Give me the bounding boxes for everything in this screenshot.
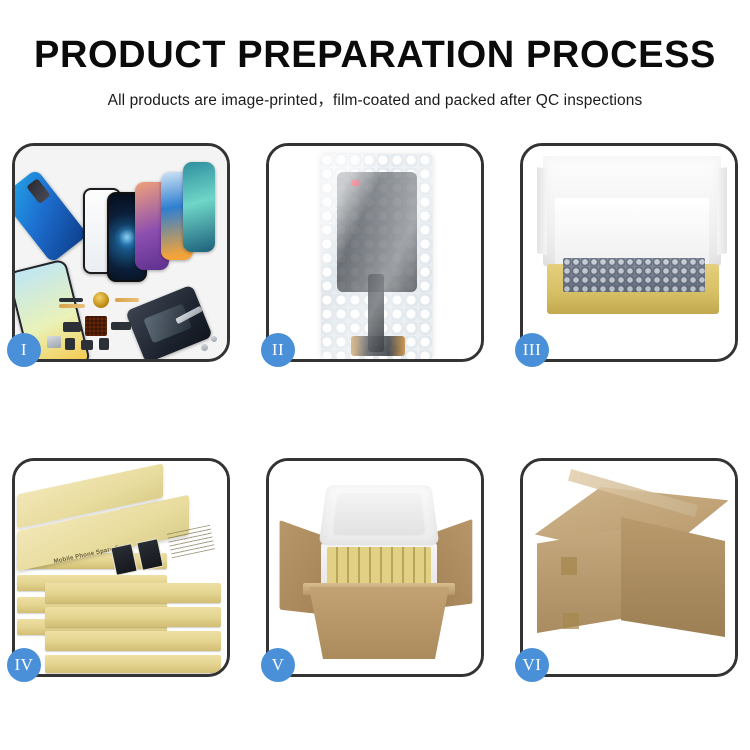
page-subtitle: All products are image-printed，film-coat…	[0, 76, 750, 110]
chip-grid-icon	[85, 316, 107, 336]
step-badge-6: VI	[515, 648, 549, 682]
process-step-panel-2[interactable]: II	[266, 143, 484, 362]
carton-seam-tab-icon	[563, 613, 579, 629]
connector-icon	[111, 322, 131, 330]
step-badge-1: I	[7, 333, 41, 367]
screw-icon	[201, 344, 208, 351]
styrofoam-lid-icon	[319, 485, 440, 545]
screw-icon	[211, 336, 217, 342]
retail-box-edge	[45, 631, 221, 651]
process-step-panel-6[interactable]: VI	[520, 458, 738, 677]
flex-cable-icon	[115, 298, 139, 302]
step-3-image	[523, 146, 735, 359]
process-step-panel-1[interactable]: I	[12, 143, 230, 362]
speaker-module-icon	[81, 340, 93, 350]
process-steps-grid: I II III	[12, 143, 738, 677]
carton-right-face-icon	[621, 517, 725, 637]
page-header: PRODUCT PREPARATION PROCESS All products…	[0, 0, 750, 110]
bubble-wrap-bag-icon	[321, 154, 433, 359]
retail-box-edge	[45, 607, 221, 627]
red-label-icon	[351, 180, 359, 186]
connector-icon	[351, 336, 405, 356]
phone-parts-scene	[15, 146, 227, 359]
step-5-image	[269, 461, 481, 674]
page-title: PRODUCT PREPARATION PROCESS	[0, 0, 750, 76]
phone-chassis-icon	[125, 285, 213, 359]
blue-back-cover-icon	[15, 169, 88, 264]
step-badge-5: V	[261, 648, 295, 682]
carton-left-face-icon	[537, 529, 623, 633]
process-step-panel-4[interactable]: Mobile Phone Spare Parts Mobile Phone Sp…	[12, 458, 230, 677]
gold-coil-icon	[93, 292, 109, 308]
bubble-wrapped-item-icon	[563, 258, 705, 292]
process-step-panel-3[interactable]: III	[520, 143, 738, 362]
product-photo	[136, 538, 164, 571]
connector-strip-icon	[59, 298, 83, 302]
retail-box-edge	[45, 655, 221, 673]
step-2-image	[269, 146, 481, 359]
camera-module-icon	[65, 338, 75, 350]
teal-gradient-screen-icon	[183, 162, 215, 252]
step-1-image	[15, 146, 227, 359]
connector-icon	[63, 322, 81, 332]
carton-front-icon	[309, 587, 449, 659]
flex-cable-icon	[59, 304, 85, 308]
step-badge-3: III	[515, 333, 549, 367]
step-badge-2: II	[261, 333, 295, 367]
sim-tray-icon	[47, 336, 61, 348]
process-step-panel-5[interactable]: V	[266, 458, 484, 677]
step-6-image	[523, 461, 735, 674]
foam-sheet-icon	[555, 198, 709, 266]
vibration-motor-icon	[99, 338, 109, 350]
step-badge-4: IV	[7, 648, 41, 682]
step-4-image: Mobile Phone Spare Parts Mobile Phone Sp…	[15, 461, 227, 674]
carton-seam-tab-icon	[561, 557, 577, 575]
product-photo	[110, 543, 138, 576]
retail-box-stack: Mobile Phone Spare Parts Mobile Phone Sp…	[17, 479, 227, 669]
retail-box-edge	[45, 583, 221, 603]
